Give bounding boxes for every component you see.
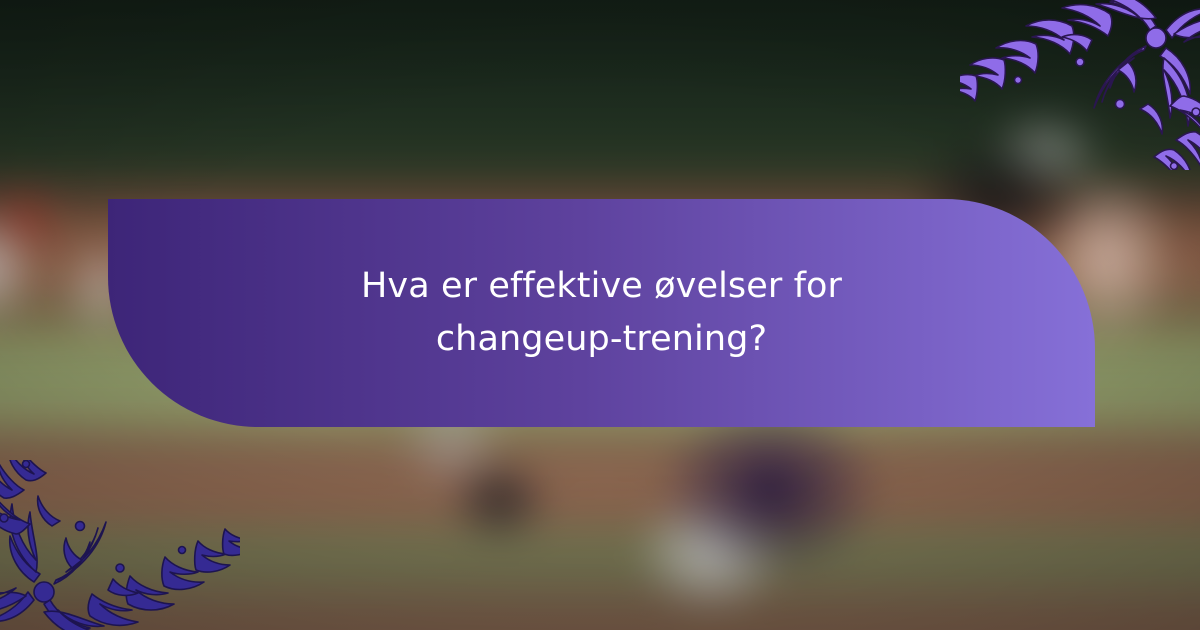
headline-banner: Hva er effektive øvelser for changeup-tr… (108, 199, 1095, 427)
social-card: Hva er effektive øvelser for changeup-tr… (0, 0, 1200, 630)
page-title: Hva er effektive øvelser for changeup-tr… (342, 260, 862, 366)
